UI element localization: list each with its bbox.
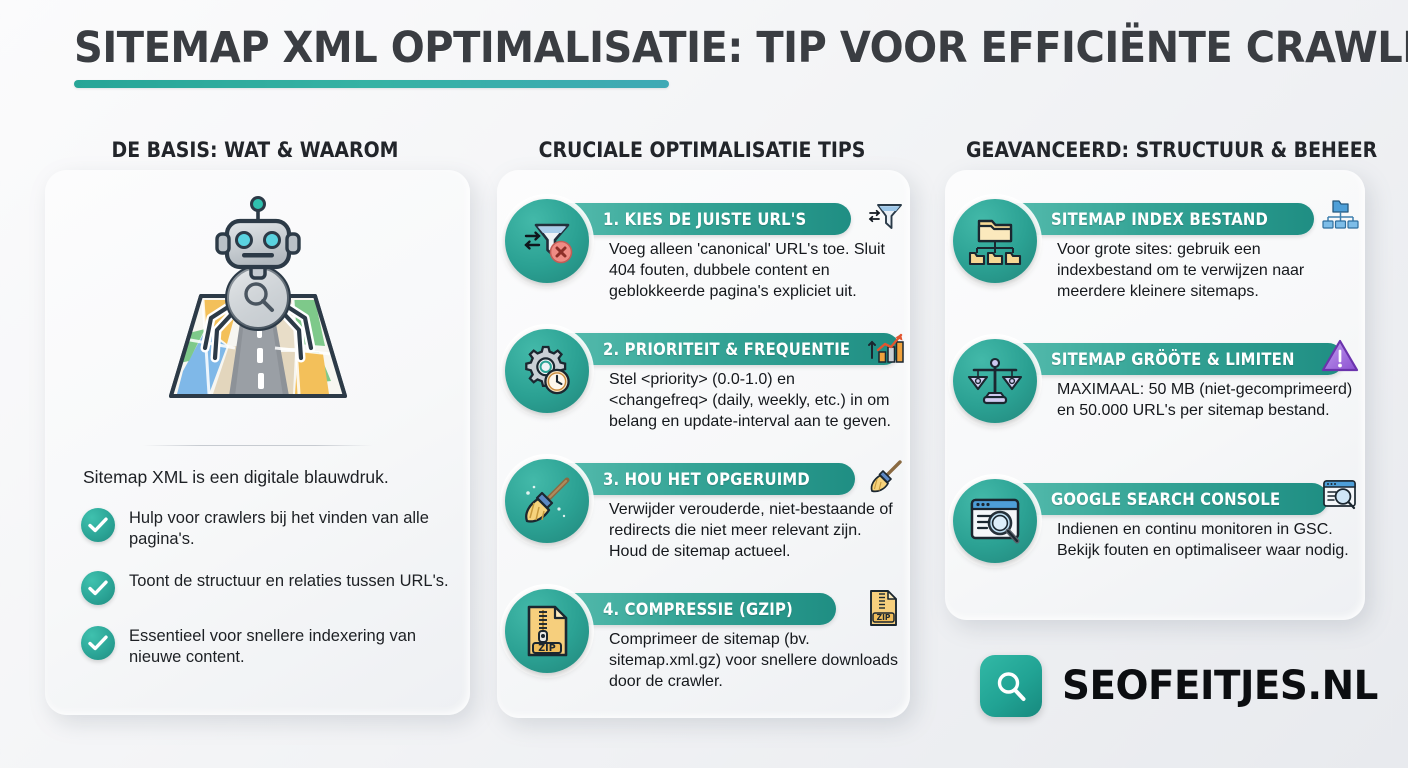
panel-cruciale-tips: 1. KIES DE JUISTE URL'S Voeg alleen 'can… bbox=[497, 170, 910, 718]
list-item-label: Toont de structuur en relaties tussen UR… bbox=[129, 569, 449, 592]
column-heading-advanced: GEAVANCEERD: STRUCTUUR & BEHEER bbox=[966, 138, 1344, 162]
sitemap-tree-icon bbox=[1321, 198, 1359, 236]
card-body-text: MAXIMAAL: 50 MB (niet-gecomprimeerd) en … bbox=[1057, 380, 1353, 422]
card-title: SITEMAP INDEX BESTAND bbox=[1051, 210, 1268, 229]
card-title: 3. HOU HET OPGERUIMD bbox=[603, 470, 810, 489]
card-sitemap-groote-limiten[interactable]: SITEMAP GRÖÖTE & LIMITEN MAXIMAAL: 50 MB… bbox=[945, 324, 1365, 454]
zip-file-small-icon: ZIP bbox=[866, 588, 904, 626]
balance-scale-icon bbox=[953, 339, 1037, 423]
card-body-text: Stel <priority> (0.0-1.0) en <changefreq… bbox=[609, 370, 898, 432]
divider-line bbox=[143, 445, 373, 446]
column-heading-tips: CRUCIALE OPTIMALISATIE TIPS bbox=[518, 138, 887, 162]
card-title: 2. PRIORITEIT & FREQUENTIE bbox=[603, 340, 850, 359]
zip-file-icon: ZIP bbox=[505, 589, 589, 673]
check-circle-icon bbox=[81, 508, 115, 542]
card-titlebar: 2. PRIORITEIT & FREQUENTIE bbox=[555, 333, 900, 365]
card-prioriteit-frequentie[interactable]: 2. PRIORITEIT & FREQUENTIE Stel <prio bbox=[497, 314, 910, 444]
check-circle-icon bbox=[81, 626, 115, 660]
card-title: 4. COMPRESSIE (GZIP) bbox=[603, 600, 793, 619]
column-heading-basis: DE BASIS: WAT & WAAROM bbox=[66, 138, 444, 162]
broom-icon bbox=[866, 458, 904, 496]
gear-clock-icon bbox=[505, 329, 589, 413]
warning-triangle-icon bbox=[1321, 338, 1359, 376]
crawler-robot-on-map-illustration bbox=[143, 196, 373, 426]
brand-logo[interactable]: SEOFEITJES.NL bbox=[980, 655, 1388, 717]
list-item: Essentieel voor snellere indexering van … bbox=[81, 624, 451, 668]
card-titlebar: 3. HOU HET OPGERUIMD bbox=[555, 463, 855, 495]
broom-cleanup-icon bbox=[505, 459, 589, 543]
card-titlebar: SITEMAP GRÖÖTE & LIMITEN bbox=[1003, 343, 1344, 375]
card-body-text: Comprimeer de sitemap (bv. sitemap.xml.g… bbox=[609, 630, 898, 692]
brand-logo-text: SEOFEITJES.NL bbox=[1062, 663, 1378, 709]
card-sitemap-index-bestand[interactable]: SITEMAP INDEX BESTAND Voor grote si bbox=[945, 184, 1365, 314]
funnel-filter-icon bbox=[866, 198, 904, 236]
card-compressie-gzip[interactable]: ZIP 4. COMPRESSIE (GZIP) ZIP bbox=[497, 574, 910, 704]
svg-text:ZIP: ZIP bbox=[538, 643, 555, 654]
list-item-label: Essentieel voor snellere indexering van … bbox=[129, 624, 451, 668]
card-title: SITEMAP GRÖÖTE & LIMITEN bbox=[1051, 350, 1295, 369]
panel-de-basis: Sitemap XML is een digitale blauwdruk. H… bbox=[45, 170, 470, 715]
card-title: 1. KIES DE JUISTE URL'S bbox=[603, 210, 806, 229]
page-title: SITEMAP XML OPTIMALISATIE: TIP VOOR EFFI… bbox=[74, 26, 1283, 71]
panel-geavanceerd: SITEMAP INDEX BESTAND Voor grote si bbox=[945, 170, 1365, 620]
basis-lead-text: Sitemap XML is een digitale blauwdruk. bbox=[83, 466, 443, 489]
card-body-text: Indienen en continu monitoren in GSC. Be… bbox=[1057, 520, 1353, 562]
title-block: SITEMAP XML OPTIMALISATIE: TIP VOOR EFFI… bbox=[74, 26, 1374, 88]
card-title: GOOGLE SEARCH CONSOLE bbox=[1051, 490, 1280, 509]
card-titlebar: SITEMAP INDEX BESTAND bbox=[1003, 203, 1314, 235]
funnel-filter-reject-icon bbox=[505, 199, 589, 283]
svg-text:ZIP: ZIP bbox=[877, 613, 891, 622]
card-body-text: Voor grote sites: gebruik een indexbesta… bbox=[1057, 240, 1353, 302]
card-titlebar: 4. COMPRESSIE (GZIP) bbox=[555, 593, 836, 625]
list-item-label: Hulp voor crawlers bij het vinden van al… bbox=[129, 506, 451, 550]
card-kies-de-juiste-urls[interactable]: 1. KIES DE JUISTE URL'S Voeg alleen 'can… bbox=[497, 184, 910, 314]
card-hou-het-opgeruimd[interactable]: 3. HOU HET OPGERUIMD Verwijder verouderd… bbox=[497, 444, 910, 574]
list-item: Hulp voor crawlers bij het vinden van al… bbox=[81, 506, 451, 550]
card-titlebar: 1. KIES DE JUISTE URL'S bbox=[555, 203, 851, 235]
browser-magnifier-icon bbox=[1321, 478, 1359, 516]
magnifier-search-icon bbox=[980, 655, 1042, 717]
bar-chart-growth-icon bbox=[866, 328, 904, 366]
list-item: Toont de structuur en relaties tussen UR… bbox=[81, 569, 451, 605]
folder-hierarchy-icon bbox=[953, 199, 1037, 283]
card-body-text: Voeg alleen 'canonical' URL's toe. Sluit… bbox=[609, 240, 898, 302]
card-titlebar: GOOGLE SEARCH CONSOLE bbox=[1003, 483, 1328, 515]
card-body-text: Verwijder verouderde, niet-bestaande of … bbox=[609, 500, 898, 562]
basis-bullet-list: Hulp voor crawlers bij het vinden van al… bbox=[81, 506, 451, 687]
title-underline-accent bbox=[74, 80, 669, 88]
card-google-search-console[interactable]: GOOGLE SEARCH CONSOLE Indienen en contin… bbox=[945, 464, 1365, 594]
check-circle-icon bbox=[81, 571, 115, 605]
browser-search-icon bbox=[953, 479, 1037, 563]
